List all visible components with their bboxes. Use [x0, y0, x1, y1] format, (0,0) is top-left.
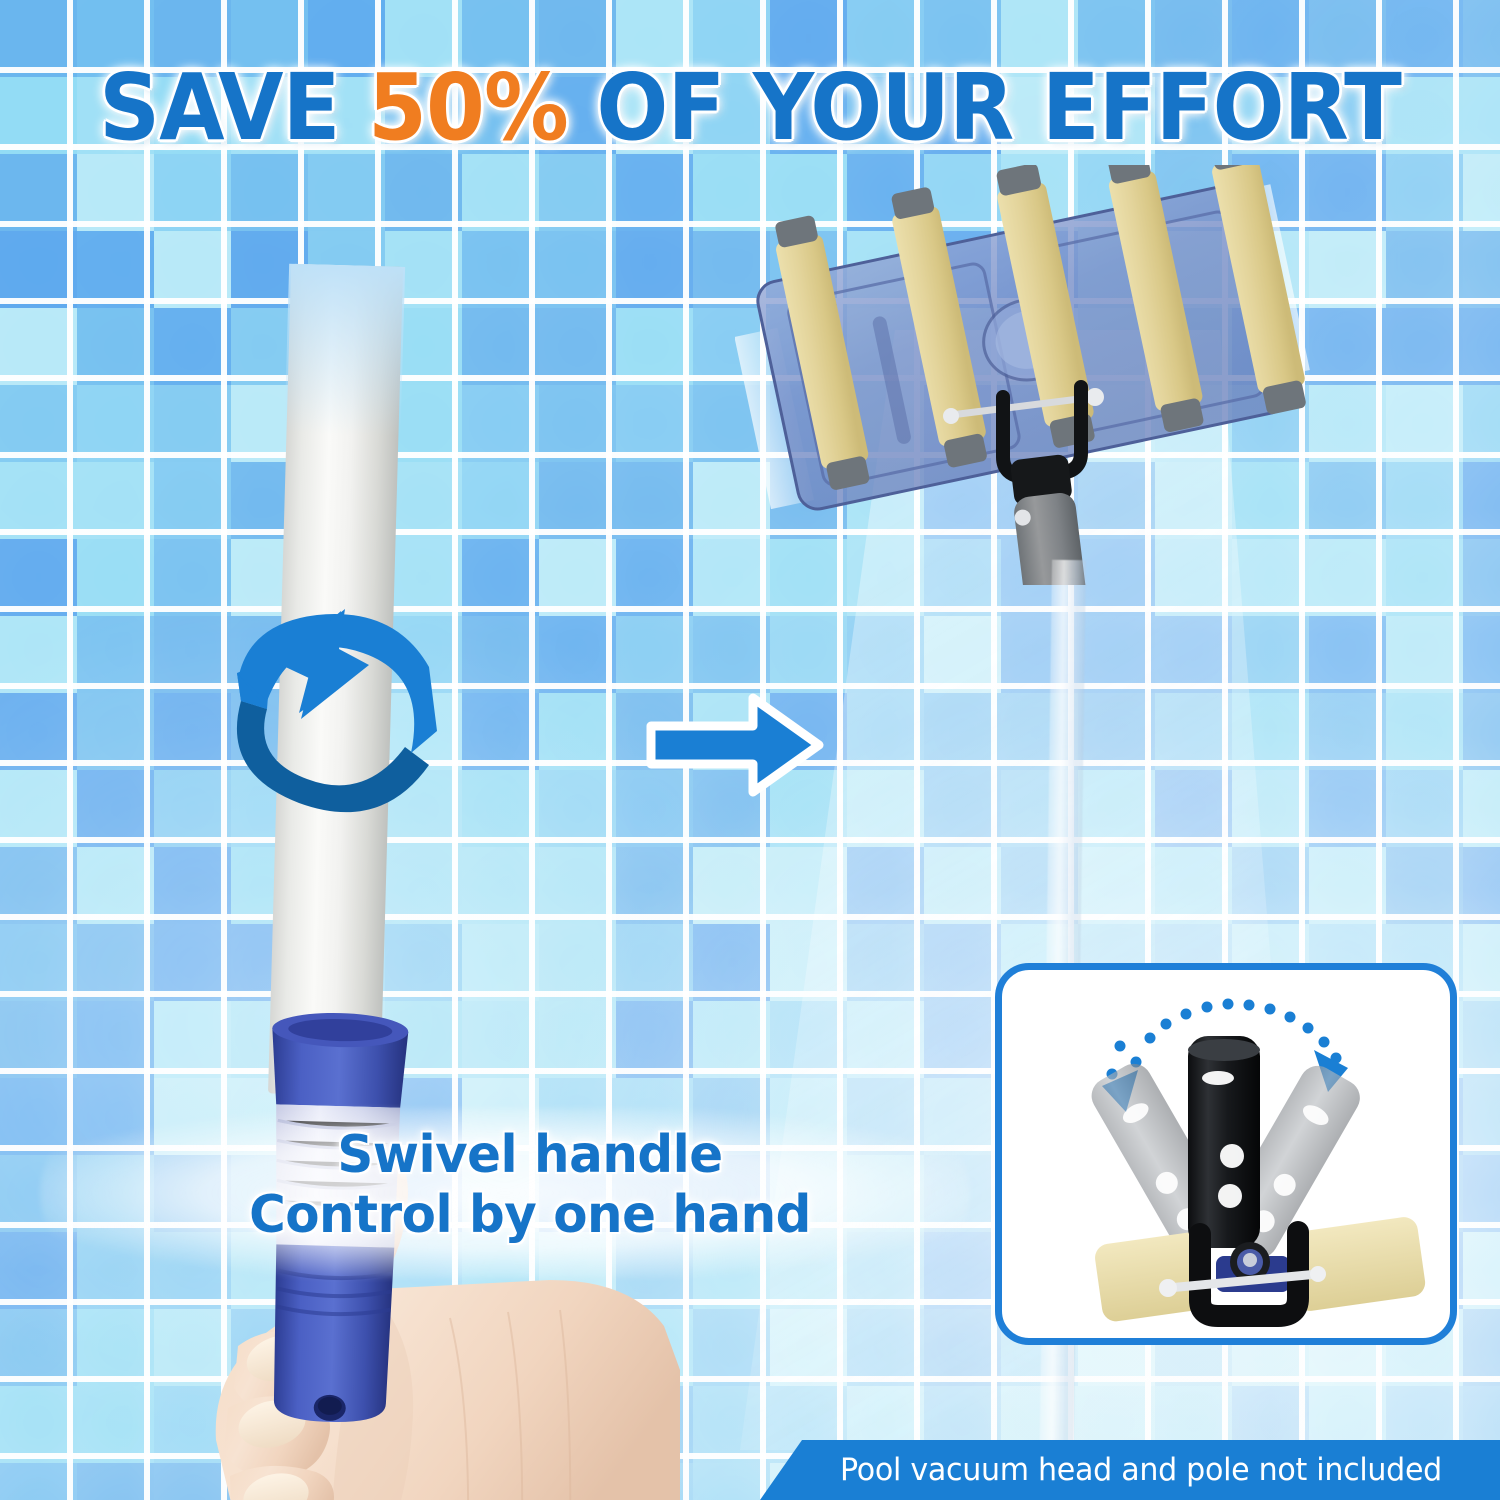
swivel-detail-illustration: [1002, 970, 1450, 1338]
rotation-arrow-icon: [215, 605, 445, 820]
pool-vacuum-head: [735, 165, 1355, 585]
product-marketing-image: SAVE 50% OF YOUR EFFORT Swivel handle Co…: [0, 0, 1500, 1500]
disclaimer-text: Pool vacuum head and pole not included: [806, 1440, 1475, 1500]
caption-line-2: Control by one hand: [194, 1185, 866, 1245]
page-title: SAVE 50% OF YOUR EFFORT: [60, 60, 1440, 156]
right-arrow-icon: [645, 690, 825, 800]
headline-highlight: 50%: [368, 54, 568, 161]
headline-part2: OF YOUR EFFORT: [568, 54, 1401, 161]
swivel-socket: [1188, 1036, 1260, 1248]
swivel-detail-inset: [995, 963, 1457, 1345]
caption-line-1: Swivel handle: [194, 1125, 866, 1185]
headline-part1: SAVE: [99, 54, 368, 161]
feature-caption: Swivel handle Control by one hand: [194, 1125, 866, 1245]
